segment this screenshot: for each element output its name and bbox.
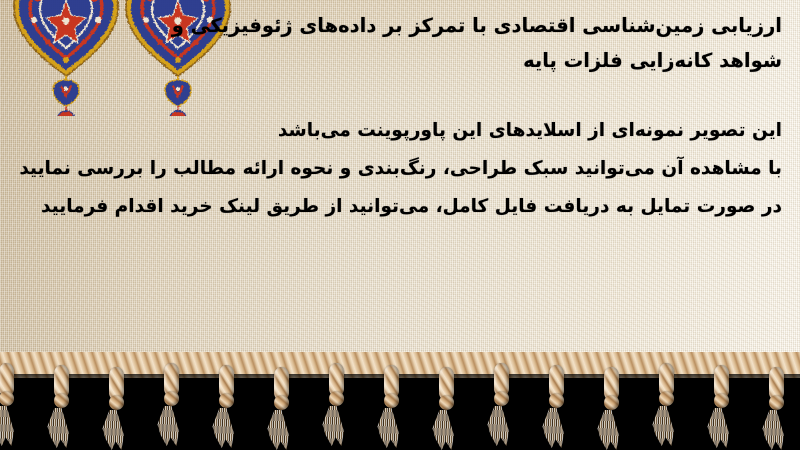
tassel-knot [769, 367, 784, 401]
tassel-brush [102, 410, 124, 450]
slide-title: ارزیابی زمین‌شناسی اقتصادی با تمرکز بر د… [216, 8, 782, 78]
fringe-tassel [603, 367, 619, 450]
title-line-1: ارزیابی زمین‌شناسی اقتصادی با تمرکز بر د… [216, 8, 782, 43]
tassel-brush [762, 410, 784, 450]
tassel-knot [274, 367, 289, 401]
slide-body: این تصویر نمونه‌ای از اسلایدهای این پاور… [16, 112, 782, 226]
tassel-brush [157, 406, 179, 446]
tassel-knot [549, 365, 564, 399]
tassel-knot [384, 365, 399, 399]
tassel-brush [47, 408, 69, 448]
tassel-knot [659, 363, 674, 397]
fringe-tassel [108, 367, 124, 450]
fringe-tassel [328, 363, 344, 446]
tassel-brush [652, 406, 674, 446]
tassel-brush [212, 408, 234, 448]
tassel-brush [542, 408, 564, 448]
fringe-tassel [163, 363, 179, 446]
fringe-tassel [53, 365, 69, 448]
fringe-tassel [713, 365, 729, 448]
slide-canvas: ارزیابی زمین‌شناسی اقتصادی با تمرکز بر د… [0, 0, 800, 450]
tassel-knot [439, 367, 454, 401]
tassel-brush [707, 408, 729, 448]
tassel-knot [54, 365, 69, 399]
tassel-knot [219, 365, 234, 399]
tassel-knot [0, 363, 14, 397]
fringe-tassel [273, 367, 289, 450]
tassel-knot [329, 363, 344, 397]
body-line-1: این تصویر نمونه‌ای از اسلایدهای این پاور… [16, 112, 782, 150]
tassel-brush [432, 410, 454, 450]
fringe-tassel [493, 363, 509, 446]
tassel-brush [597, 410, 619, 450]
tassel-brush [0, 406, 14, 446]
tassel-brush [377, 408, 399, 448]
tassel-knot [109, 367, 124, 401]
carpet-fringe [0, 352, 800, 450]
tassel-knot [494, 363, 509, 397]
tassel-knot [164, 363, 179, 397]
text-layer: ارزیابی زمین‌شناسی اقتصادی با تمرکز بر د… [0, 0, 800, 372]
fringe-tassel [218, 365, 234, 448]
tassel-brush [267, 410, 289, 450]
fringe-tassel [768, 367, 784, 450]
fringe-tassel [548, 365, 564, 448]
title-line-2: شواهد کانه‌زایی فلزات پایه [216, 43, 782, 78]
fringe-tassel [438, 367, 454, 450]
body-line-3: در صورت تمایل به دریافت فایل کامل، می‌تو… [16, 188, 782, 226]
tassel-brush [322, 406, 344, 446]
fringe-tassel [383, 365, 399, 448]
tassel-knot [714, 365, 729, 399]
fringe-tassel [0, 363, 14, 446]
body-line-2: با مشاهده آن می‌توانید سبک طراحی، رنگ‌بن… [16, 150, 782, 188]
tassel-knot [604, 367, 619, 401]
tassel-brush [487, 406, 509, 446]
fringe-tassel [658, 363, 674, 446]
